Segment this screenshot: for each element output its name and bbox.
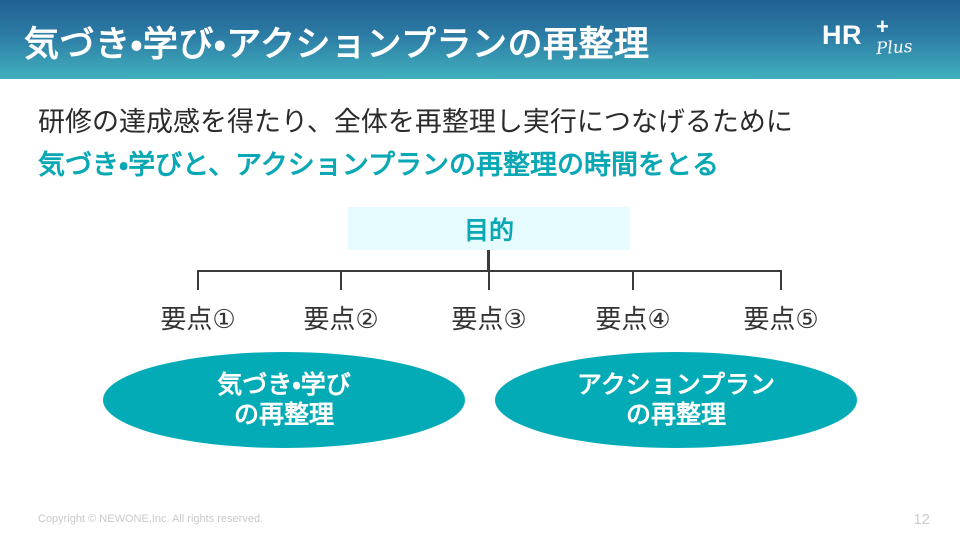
connector-drop-5 xyxy=(780,270,782,290)
header-bar: 気づき・学び・アクションプランの再整理 HR + Plus xyxy=(0,0,960,79)
ellipse-action-plan: アクションプラン の再整理 xyxy=(495,352,857,448)
ellipse-action-plan-line-2: の再整理 xyxy=(626,400,726,431)
point-label-4: 要点④ xyxy=(553,299,713,336)
connector-stem xyxy=(487,250,490,272)
lead-line-1: 研修の達成感を得たり、全体を再整理し実行につなげるために xyxy=(38,100,793,139)
hrplus-logo: HR + Plus xyxy=(814,18,934,66)
point-label-3: 要点③ xyxy=(409,299,569,336)
ellipse-insights-line-2: の再整理 xyxy=(234,400,334,431)
connector-drop-1 xyxy=(197,270,199,290)
slide-root: 気づき・学び・アクションプランの再整理 HR + Plus 研修の達成感を得たり… xyxy=(0,0,960,540)
point-label-1: 要点① xyxy=(118,299,278,336)
lead-line-2: 気づき・学びと、アクションプランの再整理の時間をとる xyxy=(38,143,719,182)
purpose-label: 目的 xyxy=(464,211,514,247)
logo-hr-text: HR xyxy=(822,20,862,51)
logo-plus-icon: + xyxy=(876,16,889,38)
purpose-box: 目的 xyxy=(348,207,630,250)
copyright-notice: Copyright © NEWONE,Inc. All rights reser… xyxy=(38,513,263,525)
page-title: 気づき・学び・アクションプランの再整理 xyxy=(24,16,650,67)
point-label-5: 要点⑤ xyxy=(701,299,861,336)
ellipse-insights: 気づき・学び の再整理 xyxy=(103,352,465,448)
ellipse-action-plan-line-1: アクションプラン xyxy=(577,370,775,401)
connector-drop-3 xyxy=(488,270,490,290)
page-number: 12 xyxy=(913,511,930,528)
point-label-2: 要点② xyxy=(261,299,421,336)
logo-plus-word: Plus xyxy=(875,37,913,60)
connector-drop-2 xyxy=(340,270,342,290)
ellipse-insights-line-1: 気づき・学び xyxy=(217,370,351,401)
connector-drop-4 xyxy=(632,270,634,290)
